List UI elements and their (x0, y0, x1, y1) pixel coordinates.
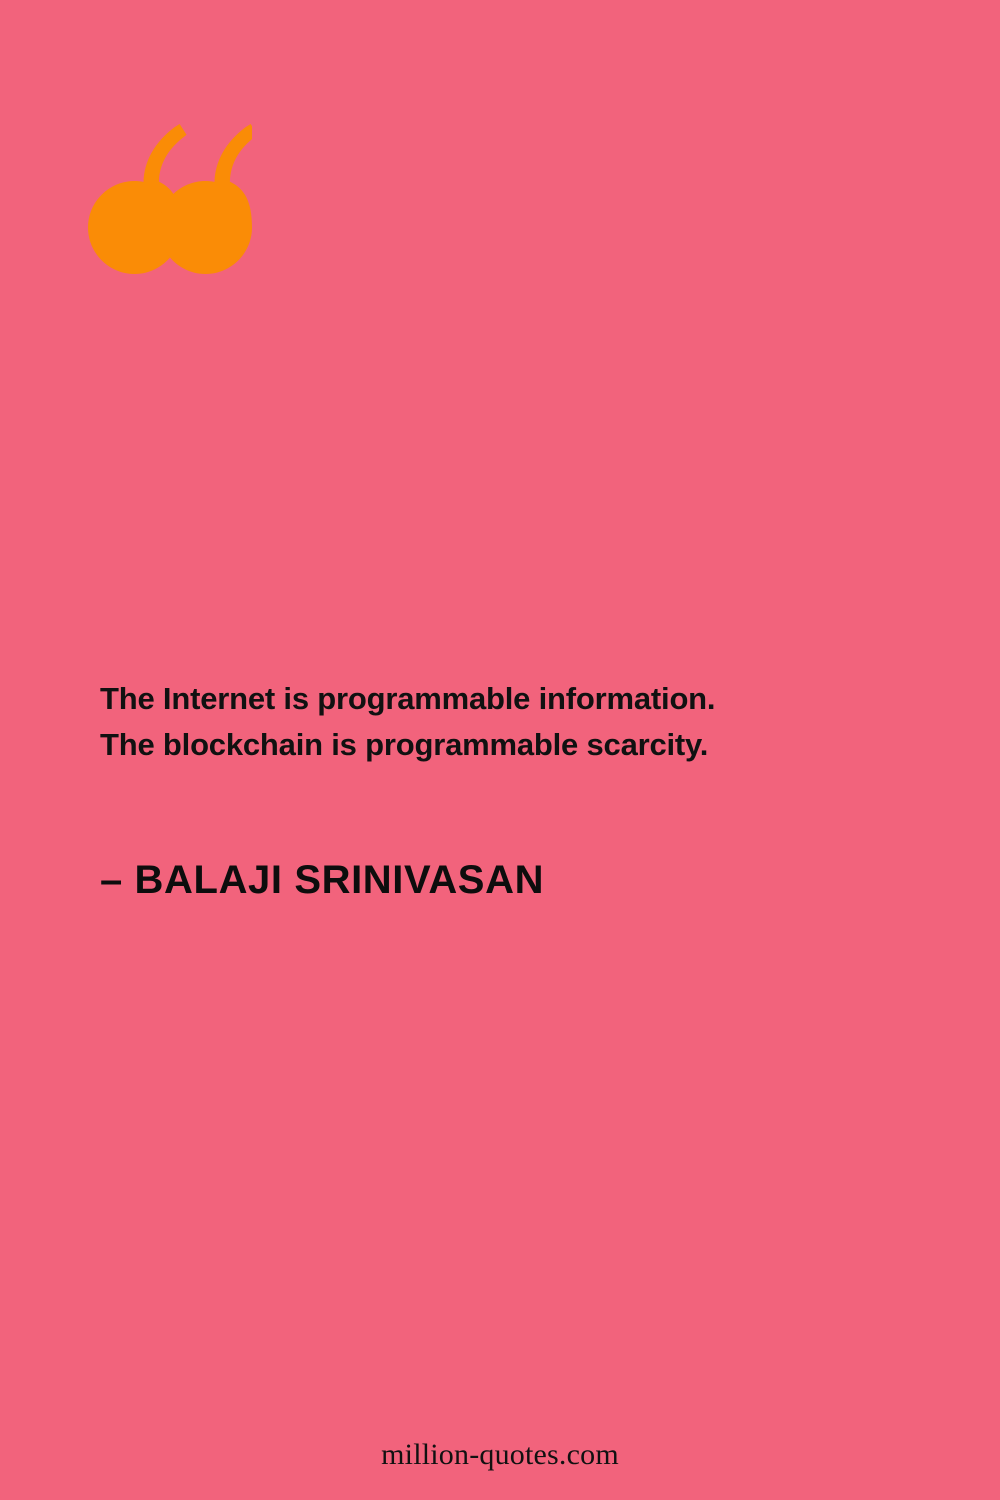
double-quote-open-icon (88, 124, 252, 274)
footer-site-label: million-quotes.com (0, 1438, 1000, 1472)
quote-attribution: – BALAJI SRINIVASAN (100, 858, 544, 903)
quote-line-2: The blockchain is programmable scarcity. (100, 722, 860, 768)
quote-text: The Internet is programmable information… (100, 676, 860, 768)
quote-card: The Internet is programmable information… (0, 0, 1000, 1500)
quote-line-1: The Internet is programmable information… (100, 676, 860, 722)
